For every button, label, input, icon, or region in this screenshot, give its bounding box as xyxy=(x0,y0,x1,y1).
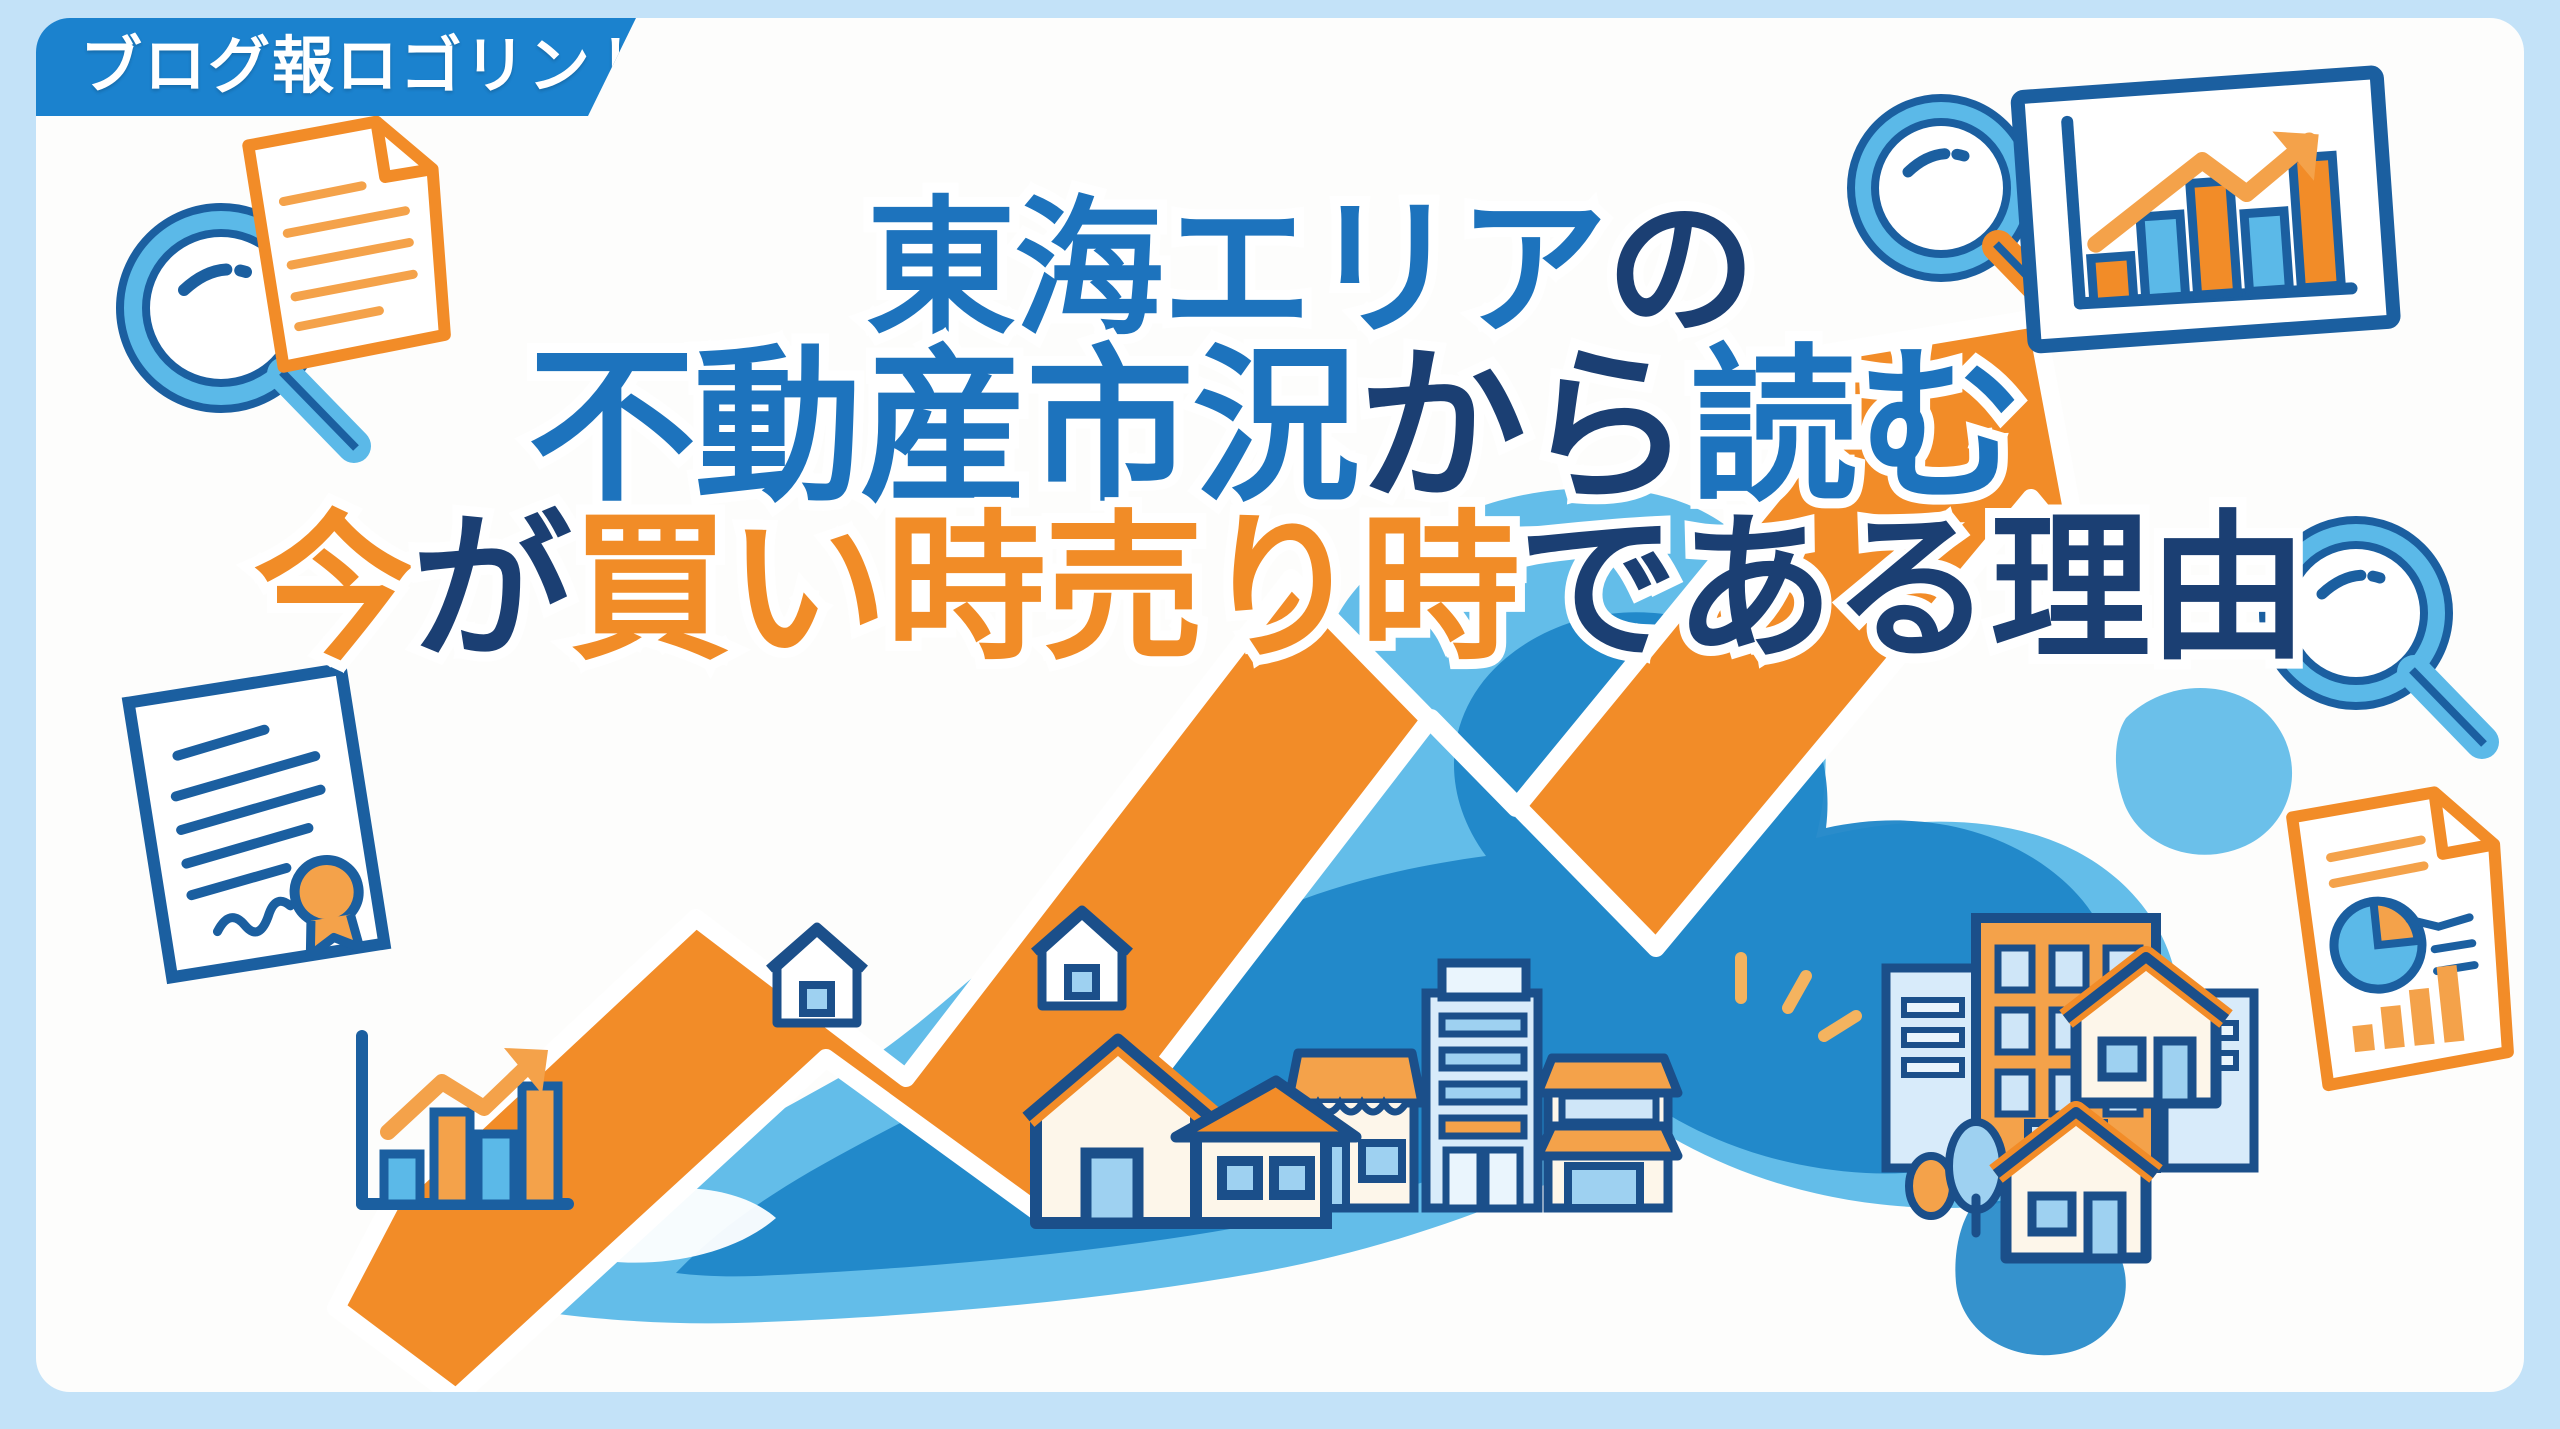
bar-chart-icon-bottom-left xyxy=(362,1036,568,1204)
category-badge[interactable]: ブログ報ロゴリント xyxy=(36,18,636,116)
bar-chart-board-icon xyxy=(2017,72,2394,347)
report-pie-chart-icon-right xyxy=(2291,787,2517,1086)
category-badge-label: ブログ報ロゴリント xyxy=(80,36,656,98)
hero-card: ブログ報ロゴリント 東海エリアの 不動産市況から読む 今が買い時売り時である理由 xyxy=(36,18,2524,1392)
house-icon-small-left xyxy=(769,927,865,1023)
document-lines-icon-top-left xyxy=(247,116,454,368)
hero-artwork xyxy=(36,18,2524,1392)
magnifier-icon-right xyxy=(2263,520,2484,744)
certificate-icon-left xyxy=(129,669,385,977)
